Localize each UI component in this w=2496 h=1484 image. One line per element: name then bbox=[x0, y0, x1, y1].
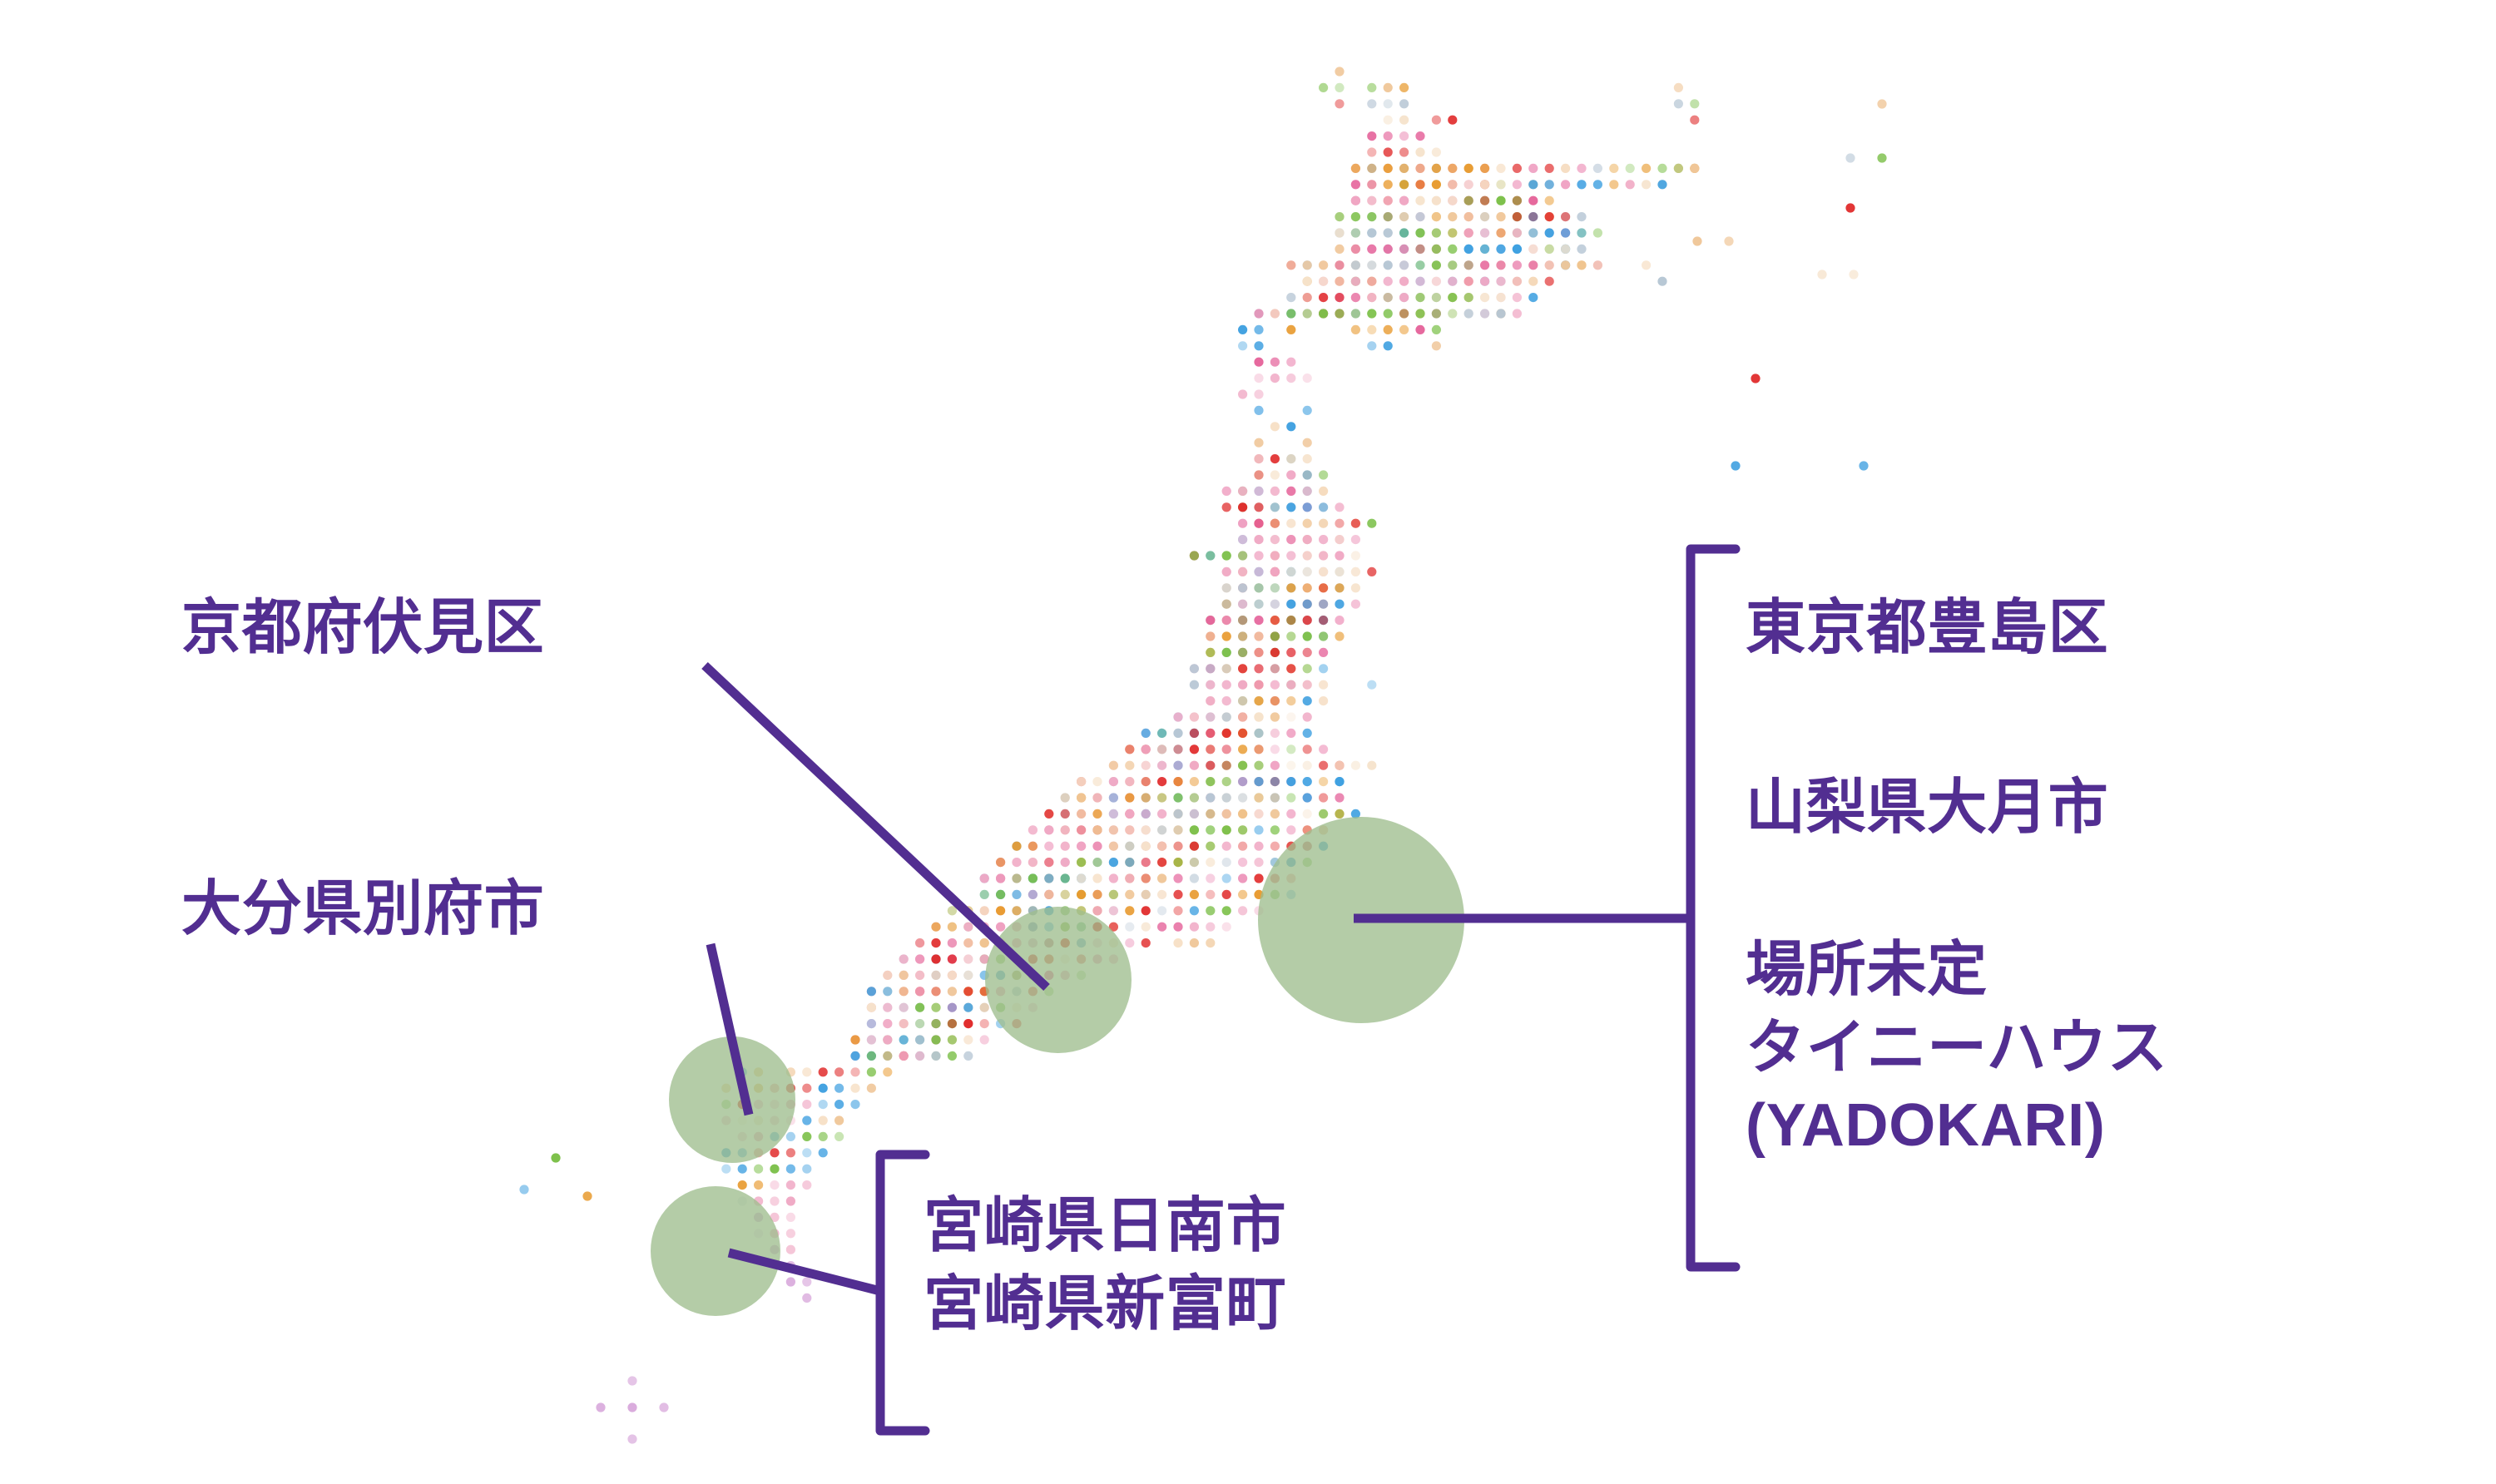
leader-line-kyoto bbox=[705, 665, 1047, 987]
label-undecided-yadokari: 場所未定 タイニーハウス (YADOKARI) bbox=[1746, 932, 2168, 1165]
bracket-bottom bbox=[880, 1155, 925, 1431]
bracket-right bbox=[1691, 549, 1736, 1267]
highlight-circle-kansai bbox=[985, 907, 1132, 1053]
highlight-circle-miyazaki bbox=[651, 1186, 780, 1316]
label-miyazaki-group: 宮崎県日南市 宮崎県新富町 bbox=[924, 1188, 1286, 1343]
label-oita-beppu: 大分県別府市 bbox=[181, 873, 544, 947]
figure-canvas: 京都府伏見区 大分県別府市 宮崎県日南市 宮崎県新富町 東京都豊島区 山梨県大月… bbox=[0, 0, 2496, 1484]
label-tokyo-toshima: 東京都豊島区 bbox=[1746, 592, 2108, 665]
label-kyoto-fushimi: 京都府伏見区 bbox=[181, 592, 544, 665]
label-yamanashi-otsuki: 山梨県大月市 bbox=[1746, 772, 2108, 845]
